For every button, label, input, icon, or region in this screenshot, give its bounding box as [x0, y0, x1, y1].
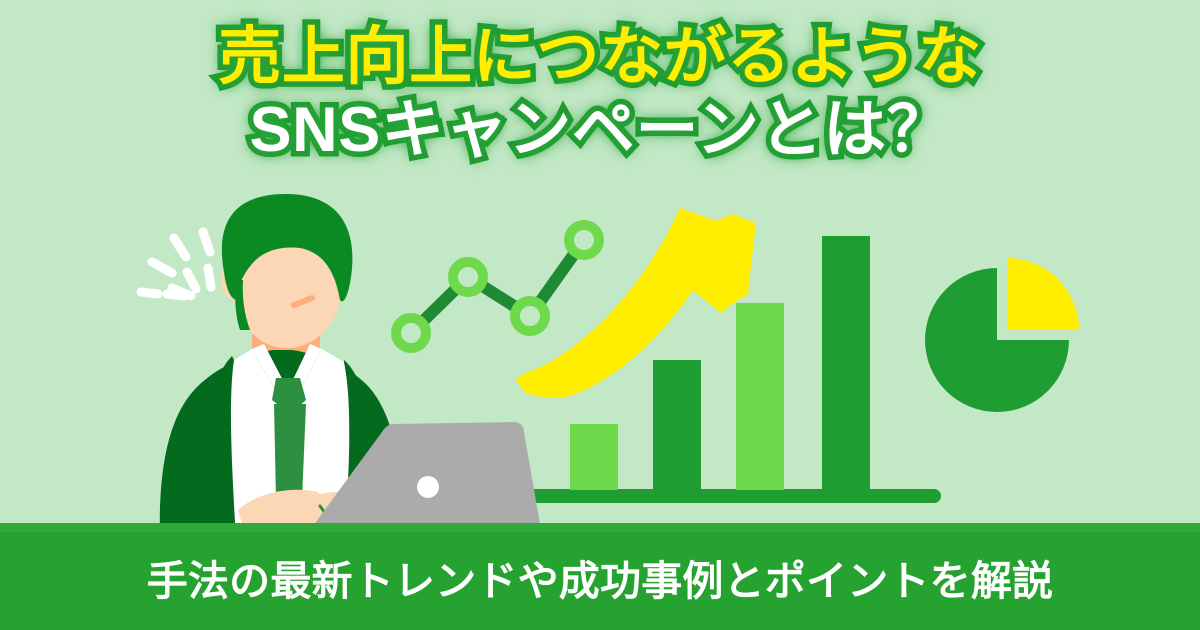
thumbnail-canvas: 売上向上につながるような SNSキャンペーンとは？ 手法の最新トレンドや成功事例… — [0, 0, 1200, 630]
laptop-logo — [417, 476, 439, 498]
bottom-banner: 手法の最新トレンドや成功事例とポイントを解説 — [0, 532, 1200, 630]
title-line-1: 売上向上につながるような — [0, 22, 1200, 93]
title-line-2: SNSキャンペーンとは？ — [0, 95, 1200, 166]
excitement-lines-icon — [141, 232, 211, 296]
title-block: 売上向上につながるような SNSキャンペーンとは？ — [0, 22, 1200, 165]
banner-subtitle: 手法の最新トレンドや成功事例とポイントを解説 — [147, 561, 1054, 602]
